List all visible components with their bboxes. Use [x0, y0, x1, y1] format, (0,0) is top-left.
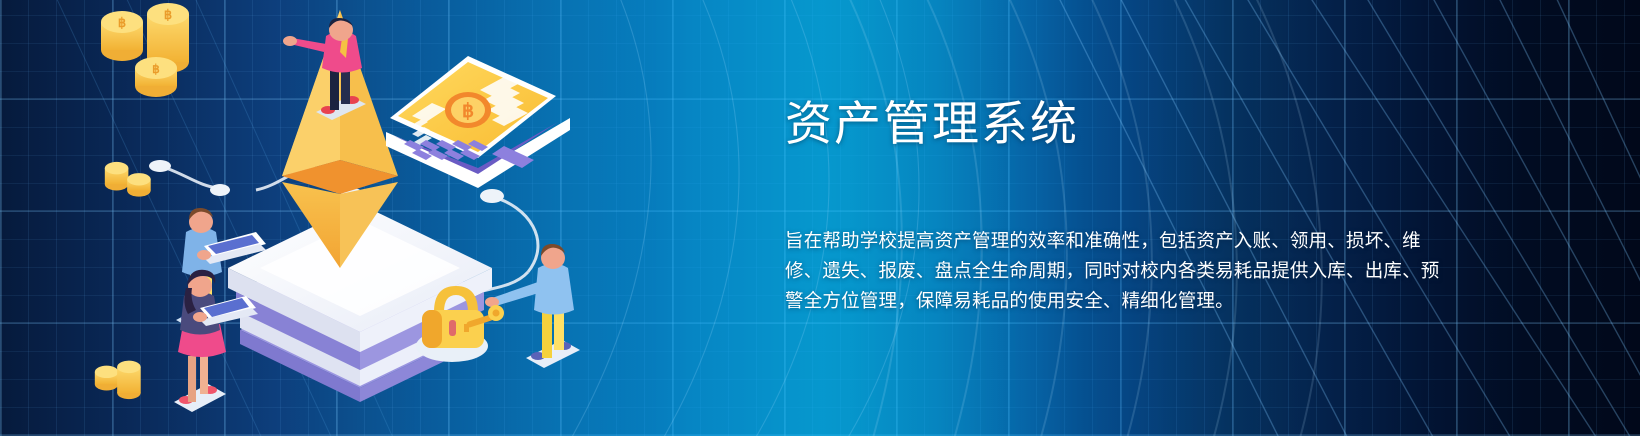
coin-stack-left-lower: [95, 361, 141, 399]
banner-copy: 资产管理系统 旨在帮助学校提高资产管理的效率和准确性，包括资产入账、领用、损坏、…: [785, 0, 1505, 436]
description-line-2: 修、遗失、报废、盘点全生命周期，同时对校内各类易耗品提供入库、出库、预: [785, 256, 1475, 286]
asset-management-banner: ฿: [0, 0, 1640, 436]
svg-text:฿: ฿: [462, 101, 474, 122]
description-line-3: 警全方位管理，保障易耗品的使用安全、精细化管理。: [785, 286, 1475, 316]
svg-text:฿: ฿: [164, 7, 172, 22]
svg-text:฿: ฿: [118, 15, 126, 30]
coin-stack-top: ฿ ฿ ฿: [101, 3, 189, 97]
svg-text:฿: ฿: [152, 62, 160, 76]
page-title: 资产管理系统: [785, 96, 1079, 152]
laptop-with-bitcoin-screen: ฿: [386, 56, 570, 188]
description-line-1: 旨在帮助学校提高资产管理的效率和准确性，包括资产入账、领用、损坏、维: [785, 226, 1475, 256]
blockchain-illustration: ฿: [60, 0, 680, 436]
coin-stack-left-upper: [105, 162, 151, 197]
banner-description: 旨在帮助学校提高资产管理的效率和准确性，包括资产入账、领用、损坏、维 修、遗失、…: [785, 226, 1475, 316]
